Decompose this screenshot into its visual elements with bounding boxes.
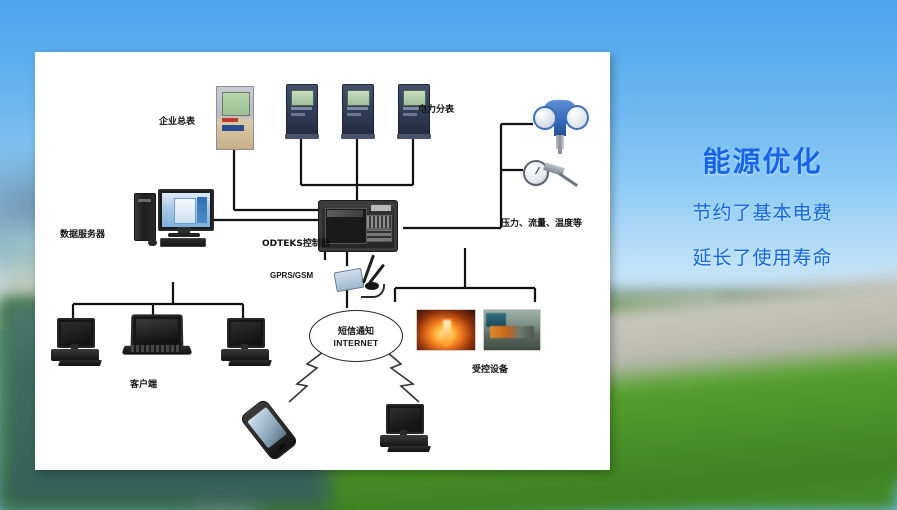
pressure-transmitter[interactable] [533, 100, 589, 158]
antenna-base [365, 282, 379, 290]
meter-screen [222, 92, 250, 116]
controller-tag [371, 205, 391, 211]
pc-keyboard [387, 446, 431, 452]
modem-body [333, 268, 364, 293]
gprs-modem[interactable] [335, 258, 393, 298]
submeter-screen [347, 90, 370, 106]
controller-keypad-2[interactable] [366, 229, 392, 242]
power-submeter-1[interactable] [286, 84, 318, 136]
submeter-bar [347, 107, 368, 110]
transmitter-tip [558, 148, 562, 154]
odteks-controller[interactable] [318, 200, 398, 252]
gprs-gsm-label: GPRS/GSM [270, 271, 313, 280]
submeter-bar-2 [347, 113, 361, 116]
controller-label: ODTEKS控制器 [262, 236, 330, 249]
pc-keyboard [58, 360, 102, 366]
submeter-base [285, 134, 319, 139]
pc-keyboard [228, 360, 272, 366]
sensors-label: 压力、流量、温度等 [501, 216, 582, 229]
submeter-bar [291, 107, 312, 110]
controller-screen-title [327, 210, 363, 217]
server-monitor-base [168, 233, 200, 237]
gauge-probe-tail [558, 172, 578, 187]
diagram-connectors [35, 52, 610, 470]
power-submeter-2[interactable] [342, 84, 374, 136]
client-pc-left[interactable] [51, 318, 103, 368]
laptop-screen [136, 319, 178, 343]
internet-cloud[interactable]: 短信通知 INTERNET [309, 310, 403, 362]
server-mouse [148, 239, 157, 246]
meter-panel [222, 125, 244, 131]
server-tower [134, 193, 156, 241]
data-server[interactable] [134, 189, 214, 251]
submeter-bar-2 [291, 113, 305, 116]
enterprise-meter[interactable] [216, 86, 254, 150]
server-keyboard [160, 238, 206, 247]
laptop-keyboard [131, 345, 181, 352]
caption-line-1: 节约了基本电费 [630, 198, 895, 225]
network-diagram: 企业总表 电力分表 [35, 52, 610, 470]
transmitter-stem [556, 135, 564, 149]
plant-photo[interactable] [483, 309, 541, 351]
pc-screen [390, 408, 420, 430]
server-monitor [158, 189, 214, 231]
server-monitor-screen [162, 193, 210, 227]
mobile-phone[interactable] [253, 402, 313, 462]
sms-notify-label: 短信通知 [338, 324, 374, 337]
caption-title: 能源优化 [630, 140, 895, 180]
pc-screen [61, 322, 91, 344]
submeter-screen [291, 90, 314, 106]
client-label: 客户端 [130, 377, 157, 390]
caption-line-2: 延长了使用寿命 [630, 243, 895, 270]
temperature-gauge[interactable] [523, 156, 583, 190]
transmitter-dial-right [565, 105, 589, 130]
diagram-panel: 企业总表 电力分表 [35, 52, 610, 470]
pc-screen [231, 322, 261, 344]
data-server-label: 数据服务器 [60, 227, 105, 240]
submeter-base [341, 134, 375, 139]
remote-pc[interactable] [380, 404, 432, 454]
server-drive-slot [138, 199, 151, 202]
submeter-bar-2 [403, 113, 417, 116]
phone-screen [247, 407, 287, 449]
laptop-lid [131, 314, 184, 348]
caption-block: 能源优化 节约了基本电费 延长了使用寿命 [630, 140, 895, 270]
furnace-photo[interactable] [416, 309, 476, 351]
power-submeter-label: 电力分表 [418, 102, 454, 115]
enterprise-meter-label: 企业总表 [159, 114, 195, 127]
phone-home-button [278, 443, 287, 451]
client-pc-right[interactable] [221, 318, 273, 368]
client-laptop[interactable] [123, 314, 195, 364]
submeter-base [397, 134, 431, 139]
slide-stage: 企业总表 电力分表 [0, 0, 897, 510]
controlled-equipment-label: 受控设备 [472, 362, 508, 375]
controller-keypad[interactable] [366, 215, 392, 229]
internet-label: INTERNET [334, 338, 379, 348]
meter-indicator [222, 118, 238, 122]
